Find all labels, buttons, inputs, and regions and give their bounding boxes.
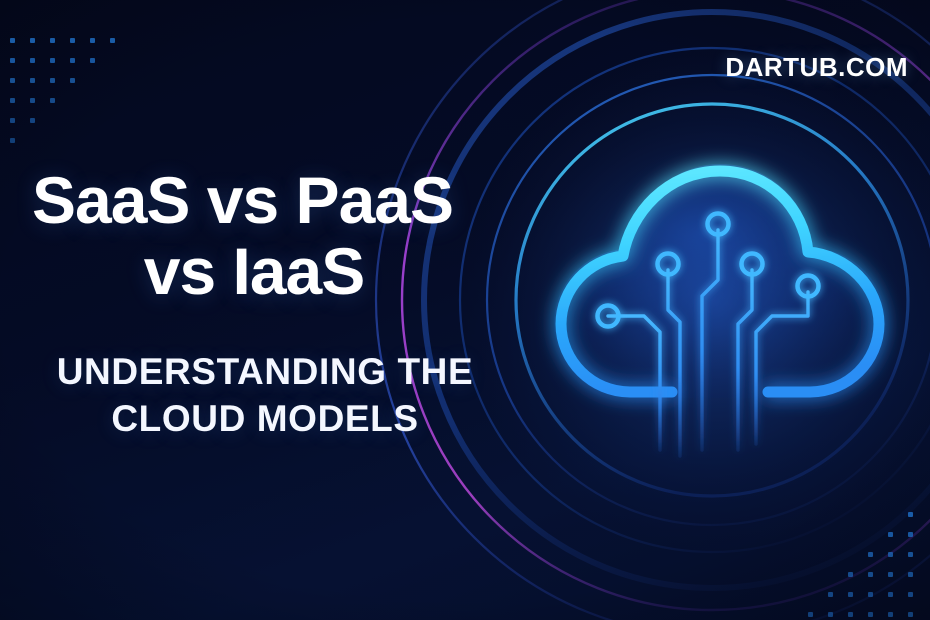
decor-dot bbox=[908, 512, 913, 517]
decor-dot bbox=[30, 118, 35, 123]
poster-canvas: DARTUB.COM SaaS vs PaaS vs IaaS UNDERSTA… bbox=[0, 0, 930, 620]
decor-dot bbox=[808, 612, 813, 617]
decor-dot bbox=[30, 58, 35, 63]
decor-dot bbox=[70, 38, 75, 43]
decor-dot bbox=[30, 78, 35, 83]
decor-dot bbox=[10, 58, 15, 63]
decor-dot bbox=[888, 532, 893, 537]
decor-dot bbox=[50, 78, 55, 83]
decor-dot bbox=[10, 118, 15, 123]
decor-dot bbox=[848, 612, 853, 617]
decor-dot bbox=[868, 592, 873, 597]
decor-dot bbox=[868, 552, 873, 557]
decor-dot bbox=[888, 592, 893, 597]
title-line-1: SaaS vs PaaS bbox=[30, 165, 500, 236]
decor-dot bbox=[10, 138, 15, 143]
decor-dot bbox=[908, 552, 913, 557]
site-logo: DARTUB.COM bbox=[725, 52, 908, 83]
decor-dot bbox=[868, 572, 873, 577]
decor-dot bbox=[30, 98, 35, 103]
decor-dot bbox=[888, 552, 893, 557]
decor-dot bbox=[908, 532, 913, 537]
decor-dot bbox=[848, 572, 853, 577]
decor-dot bbox=[90, 38, 95, 43]
decor-dot bbox=[110, 38, 115, 43]
page-title: SaaS vs PaaS vs IaaS bbox=[30, 165, 500, 308]
subtitle-line-2: CLOUD MODELS bbox=[30, 395, 500, 442]
title-line-2: vs IaaS bbox=[30, 236, 500, 307]
decor-dot bbox=[70, 58, 75, 63]
decor-dot bbox=[868, 612, 873, 617]
decor-dot bbox=[10, 78, 15, 83]
decor-dot bbox=[90, 58, 95, 63]
cloud-circuit-illustration bbox=[520, 120, 920, 480]
decor-dot bbox=[828, 592, 833, 597]
decor-dot bbox=[50, 58, 55, 63]
decor-dot bbox=[828, 612, 833, 617]
decor-dot bbox=[50, 38, 55, 43]
decor-dot bbox=[908, 592, 913, 597]
decor-dot bbox=[30, 38, 35, 43]
decor-dot bbox=[50, 98, 55, 103]
decor-dot bbox=[888, 572, 893, 577]
decor-dot bbox=[908, 572, 913, 577]
page-subtitle: UNDERSTANDING THE CLOUD MODELS bbox=[30, 348, 500, 443]
decor-dot bbox=[908, 612, 913, 617]
decor-dot bbox=[888, 612, 893, 617]
decor-dot bbox=[10, 98, 15, 103]
subtitle-line-1: UNDERSTANDING THE bbox=[30, 348, 500, 395]
decor-dot bbox=[70, 78, 75, 83]
cloud-interior-fill bbox=[554, 164, 886, 398]
decor-dot bbox=[10, 38, 15, 43]
decor-dot bbox=[848, 592, 853, 597]
